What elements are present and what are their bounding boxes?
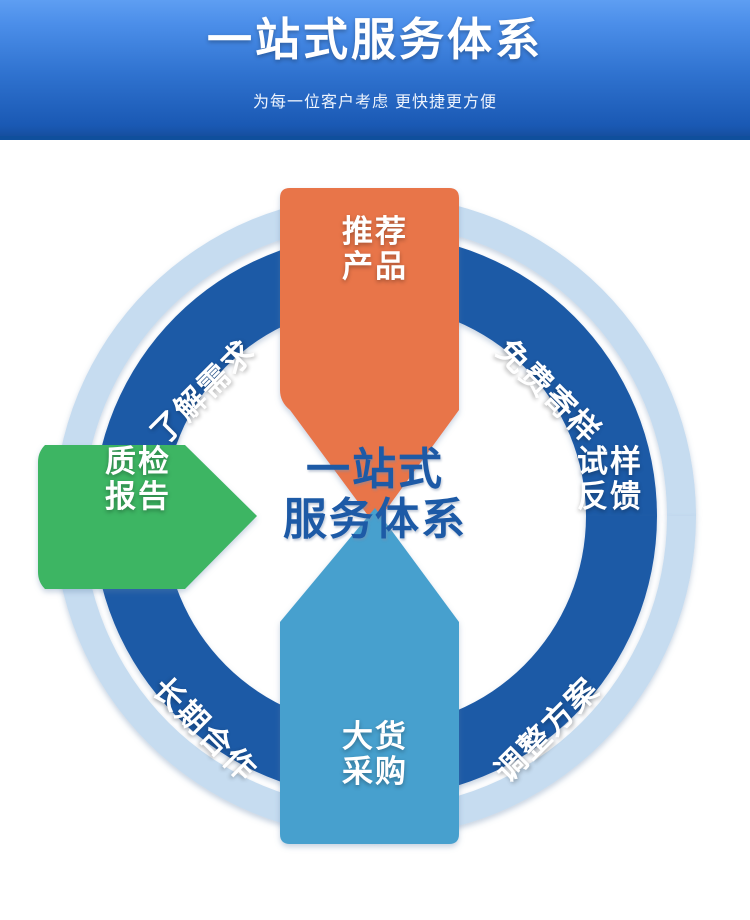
wheel-diagram: 了解需求 免费寄样 长期合作 调整方案 推荐 产品 大货 采购 质检 报告 试样…: [0, 140, 750, 920]
petal-top[interactable]: [280, 188, 459, 525]
petal-bottom-body: [280, 508, 459, 844]
petal-top-body: [280, 188, 459, 525]
petal-left[interactable]: [38, 445, 257, 589]
header-banner: 一站式服务体系 为每一位客户考虑 更快捷更方便: [0, 0, 750, 140]
petal-bottom[interactable]: [280, 508, 459, 844]
wheel-shapes: [0, 140, 750, 920]
petal-left-body: [38, 445, 257, 589]
page-subtitle: 为每一位客户考虑 更快捷更方便: [0, 88, 750, 112]
page-title: 一站式服务体系: [0, 16, 750, 63]
service-system-infographic: 一站式服务体系 为每一位客户考虑 更快捷更方便: [0, 0, 750, 920]
